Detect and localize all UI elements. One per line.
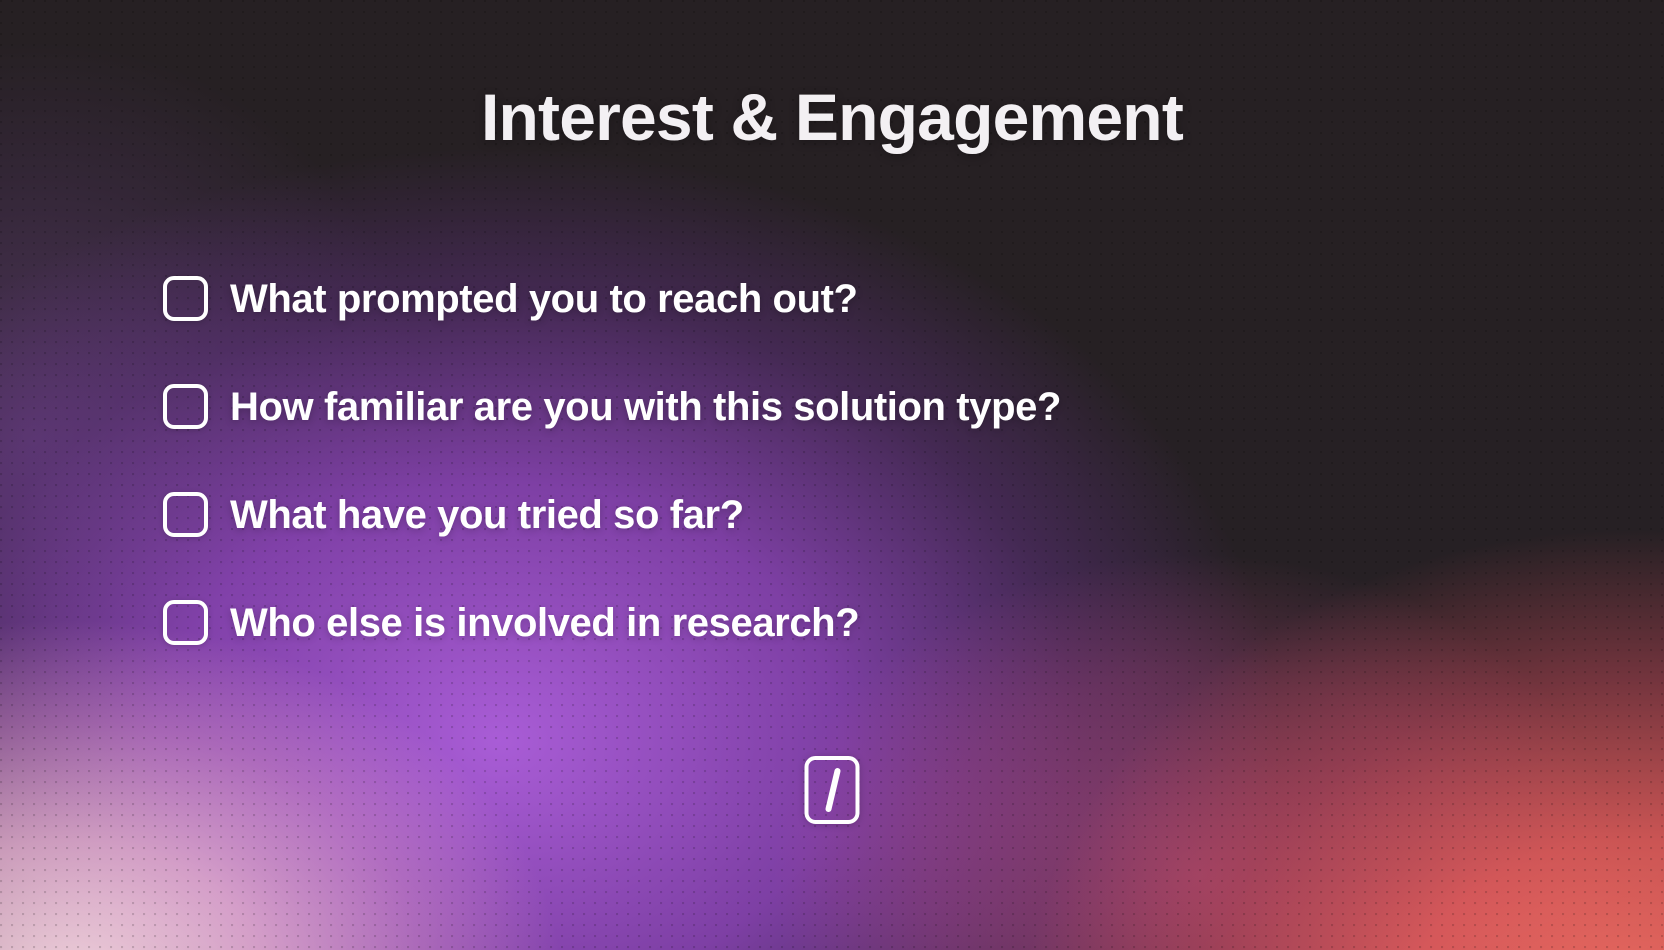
slash-logo-icon <box>805 756 860 824</box>
slide-title: Interest & Engagement <box>0 84 1664 150</box>
checkbox-empty-icon[interactable] <box>163 492 208 537</box>
checklist: What prompted you to reach out? How fami… <box>163 268 1061 653</box>
checklist-item[interactable]: What prompted you to reach out? <box>163 268 1061 329</box>
checklist-item[interactable]: Who else is involved in research? <box>163 592 1061 653</box>
checklist-item-label: What have you tried so far? <box>230 494 744 536</box>
checklist-item[interactable]: What have you tried so far? <box>163 484 1061 545</box>
checklist-item[interactable]: How familiar are you with this solution … <box>163 376 1061 437</box>
checkbox-empty-icon[interactable] <box>163 276 208 321</box>
presentation-slide: Interest & Engagement What prompted you … <box>0 0 1664 950</box>
checkbox-empty-icon[interactable] <box>163 600 208 645</box>
checklist-item-label: Who else is involved in research? <box>230 602 859 644</box>
checkbox-empty-icon[interactable] <box>163 384 208 429</box>
slide-content: Interest & Engagement What prompted you … <box>0 0 1664 950</box>
checklist-item-label: How familiar are you with this solution … <box>230 386 1061 428</box>
checklist-item-label: What prompted you to reach out? <box>230 278 858 320</box>
